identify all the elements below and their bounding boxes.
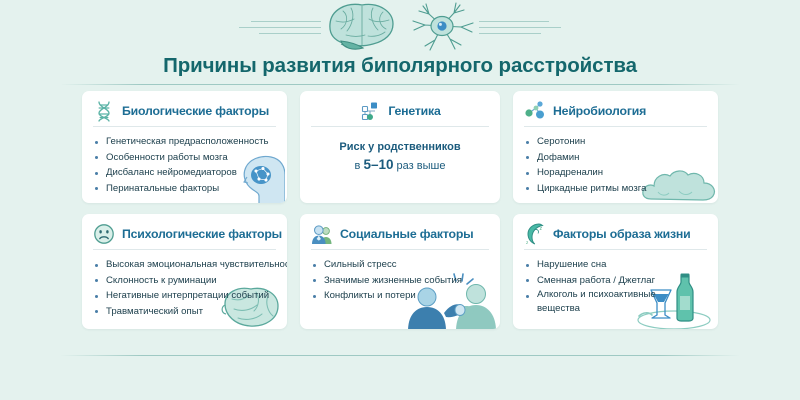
list-item: Травматический опыт (93, 304, 276, 320)
card-neurobiology[interactable]: Нейробиология Серотонин Дофамин Норадрен… (513, 91, 718, 203)
pedigree-chart-icon (359, 100, 381, 122)
card-title: Нейробиология (553, 104, 646, 118)
card-divider (311, 249, 489, 250)
card-list: Сильный стресс Значимые жизненные событи… (311, 257, 489, 304)
neuron-icon (405, 1, 479, 53)
card-divider (524, 249, 707, 250)
card-title: Факторы образа жизни (553, 227, 690, 241)
dna-icon (93, 100, 115, 122)
brain-icon (321, 1, 403, 53)
header-divider (60, 84, 740, 85)
list-item: Значимые жизненные события (311, 273, 489, 289)
decorative-lines-left (231, 12, 321, 42)
card-social[interactable]: Социальные факторы Сильный стресс Значим… (300, 214, 500, 329)
page-header: Причины развития биполярного расстройств… (0, 0, 800, 88)
list-item: Сильный стресс (311, 257, 489, 273)
card-divider (524, 126, 707, 127)
list-item: Негативные интерпретации событий (93, 288, 276, 304)
list-item: Серотонин (524, 134, 707, 150)
card-header: Психологические факторы (93, 223, 276, 245)
card-title: Социальные факторы (340, 227, 473, 241)
list-item: Дисбаланс нейромедиаторов (93, 165, 276, 181)
card-list: Нарушение сна Сменная работа / Джетлаг А… (524, 257, 707, 315)
card-header: Генетика (311, 100, 489, 122)
card-lifestyle[interactable]: z z Факторы образа жизни Нарушение сна С… (513, 214, 718, 329)
moon-sleep-icon: z z (524, 223, 546, 245)
genetics-line-2: в 5–10 раз выше (311, 156, 489, 175)
list-item: Сменная работа / Джетлаг (524, 273, 707, 289)
molecule-icon (524, 100, 546, 122)
list-item: Циркадные ритмы мозга (524, 181, 707, 197)
list-item: Склонность к руминации (93, 273, 276, 289)
card-header: Нейробиология (524, 100, 707, 122)
card-genetics[interactable]: Генетика Риск у родственников в 5–10 раз… (300, 91, 500, 203)
list-item: Высокая эмоциональная чувствительность (93, 257, 276, 273)
sad-face-icon (93, 223, 115, 245)
footer-divider (60, 355, 740, 356)
card-title: Биологические факторы (122, 104, 269, 118)
list-item: Перинатальные факторы (93, 181, 276, 197)
list-item: Норадреналин (524, 165, 707, 181)
card-header: z z Факторы образа жизни (524, 223, 707, 245)
list-item: Особенности работы мозга (93, 150, 276, 166)
card-list: Серотонин Дофамин Норадреналин Циркадные… (524, 134, 707, 196)
genetics-line-1: Риск у родственников (311, 138, 489, 156)
page-title: Причины развития биполярного расстройств… (0, 54, 800, 78)
card-psychological[interactable]: Психологические факторы Высокая эмоциона… (82, 214, 287, 329)
svg-text:z: z (540, 226, 543, 232)
card-list: Высокая эмоциональная чувствительность С… (93, 257, 276, 319)
card-title: Психологические факторы (122, 227, 282, 241)
list-item: Конфликты и потери (311, 288, 489, 304)
card-title: Генетика (388, 104, 440, 118)
list-item: Генетическая предрасположенность (93, 134, 276, 150)
genetics-suffix: раз выше (393, 160, 445, 172)
factors-grid: Биологические факторы Генетическая предр… (82, 91, 718, 342)
decorative-lines-right (479, 12, 569, 42)
list-item: Нарушение сна (524, 257, 707, 273)
card-list: Генетическая предрасположенность Особенн… (93, 134, 276, 196)
card-divider (93, 126, 276, 127)
list-item: Дофамин (524, 150, 707, 166)
list-item: Алкоголь и психоактивные вещества (524, 288, 674, 315)
two-people-icon (311, 223, 333, 245)
genetics-value: 5–10 (363, 157, 393, 172)
hero-illustration (0, 2, 800, 52)
genetics-risk-text: Риск у родственников в 5–10 раз выше (311, 138, 489, 175)
card-header: Социальные факторы (311, 223, 489, 245)
card-biological[interactable]: Биологические факторы Генетическая предр… (82, 91, 287, 203)
card-divider (93, 249, 276, 250)
card-header: Биологические факторы (93, 100, 276, 122)
svg-text:z: z (526, 240, 529, 245)
card-divider (311, 126, 489, 127)
